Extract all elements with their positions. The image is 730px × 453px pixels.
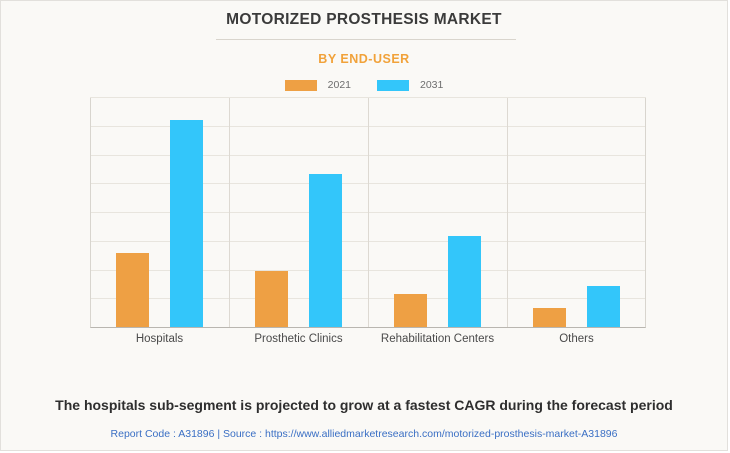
chart-subtitle: BY END-USER — [1, 52, 727, 66]
legend-swatch-2021 — [285, 80, 317, 91]
x-axis-label-1: Prosthetic Clinics — [229, 333, 368, 345]
infographic-card: MOTORIZED PROSTHESIS MARKET BY END-USER … — [0, 0, 728, 451]
legend-label-2021: 2021 — [328, 79, 351, 91]
x-axis-label-0: Hospitals — [90, 333, 229, 345]
chart-legend: 2021 2031 — [1, 79, 727, 91]
plot-area — [90, 98, 646, 328]
page-title: MOTORIZED PROSTHESIS MARKET — [1, 11, 727, 29]
plot-frame — [90, 98, 646, 328]
legend-label-2031: 2031 — [420, 79, 443, 91]
source-line: Report Code : A31896 | Source : https://… — [1, 428, 727, 440]
legend-swatch-2031 — [377, 80, 409, 91]
legend-item-2031[interactable]: 2031 — [377, 79, 443, 91]
x-axis-label-3: Others — [507, 333, 646, 345]
x-axis-labels: HospitalsProsthetic ClinicsRehabilitatio… — [90, 333, 646, 345]
legend-item-2021[interactable]: 2021 — [285, 79, 351, 91]
chart-caption: The hospitals sub-segment is projected t… — [1, 397, 727, 413]
title-divider — [216, 39, 516, 40]
x-axis-label-2: Rehabilitation Centers — [368, 333, 507, 345]
